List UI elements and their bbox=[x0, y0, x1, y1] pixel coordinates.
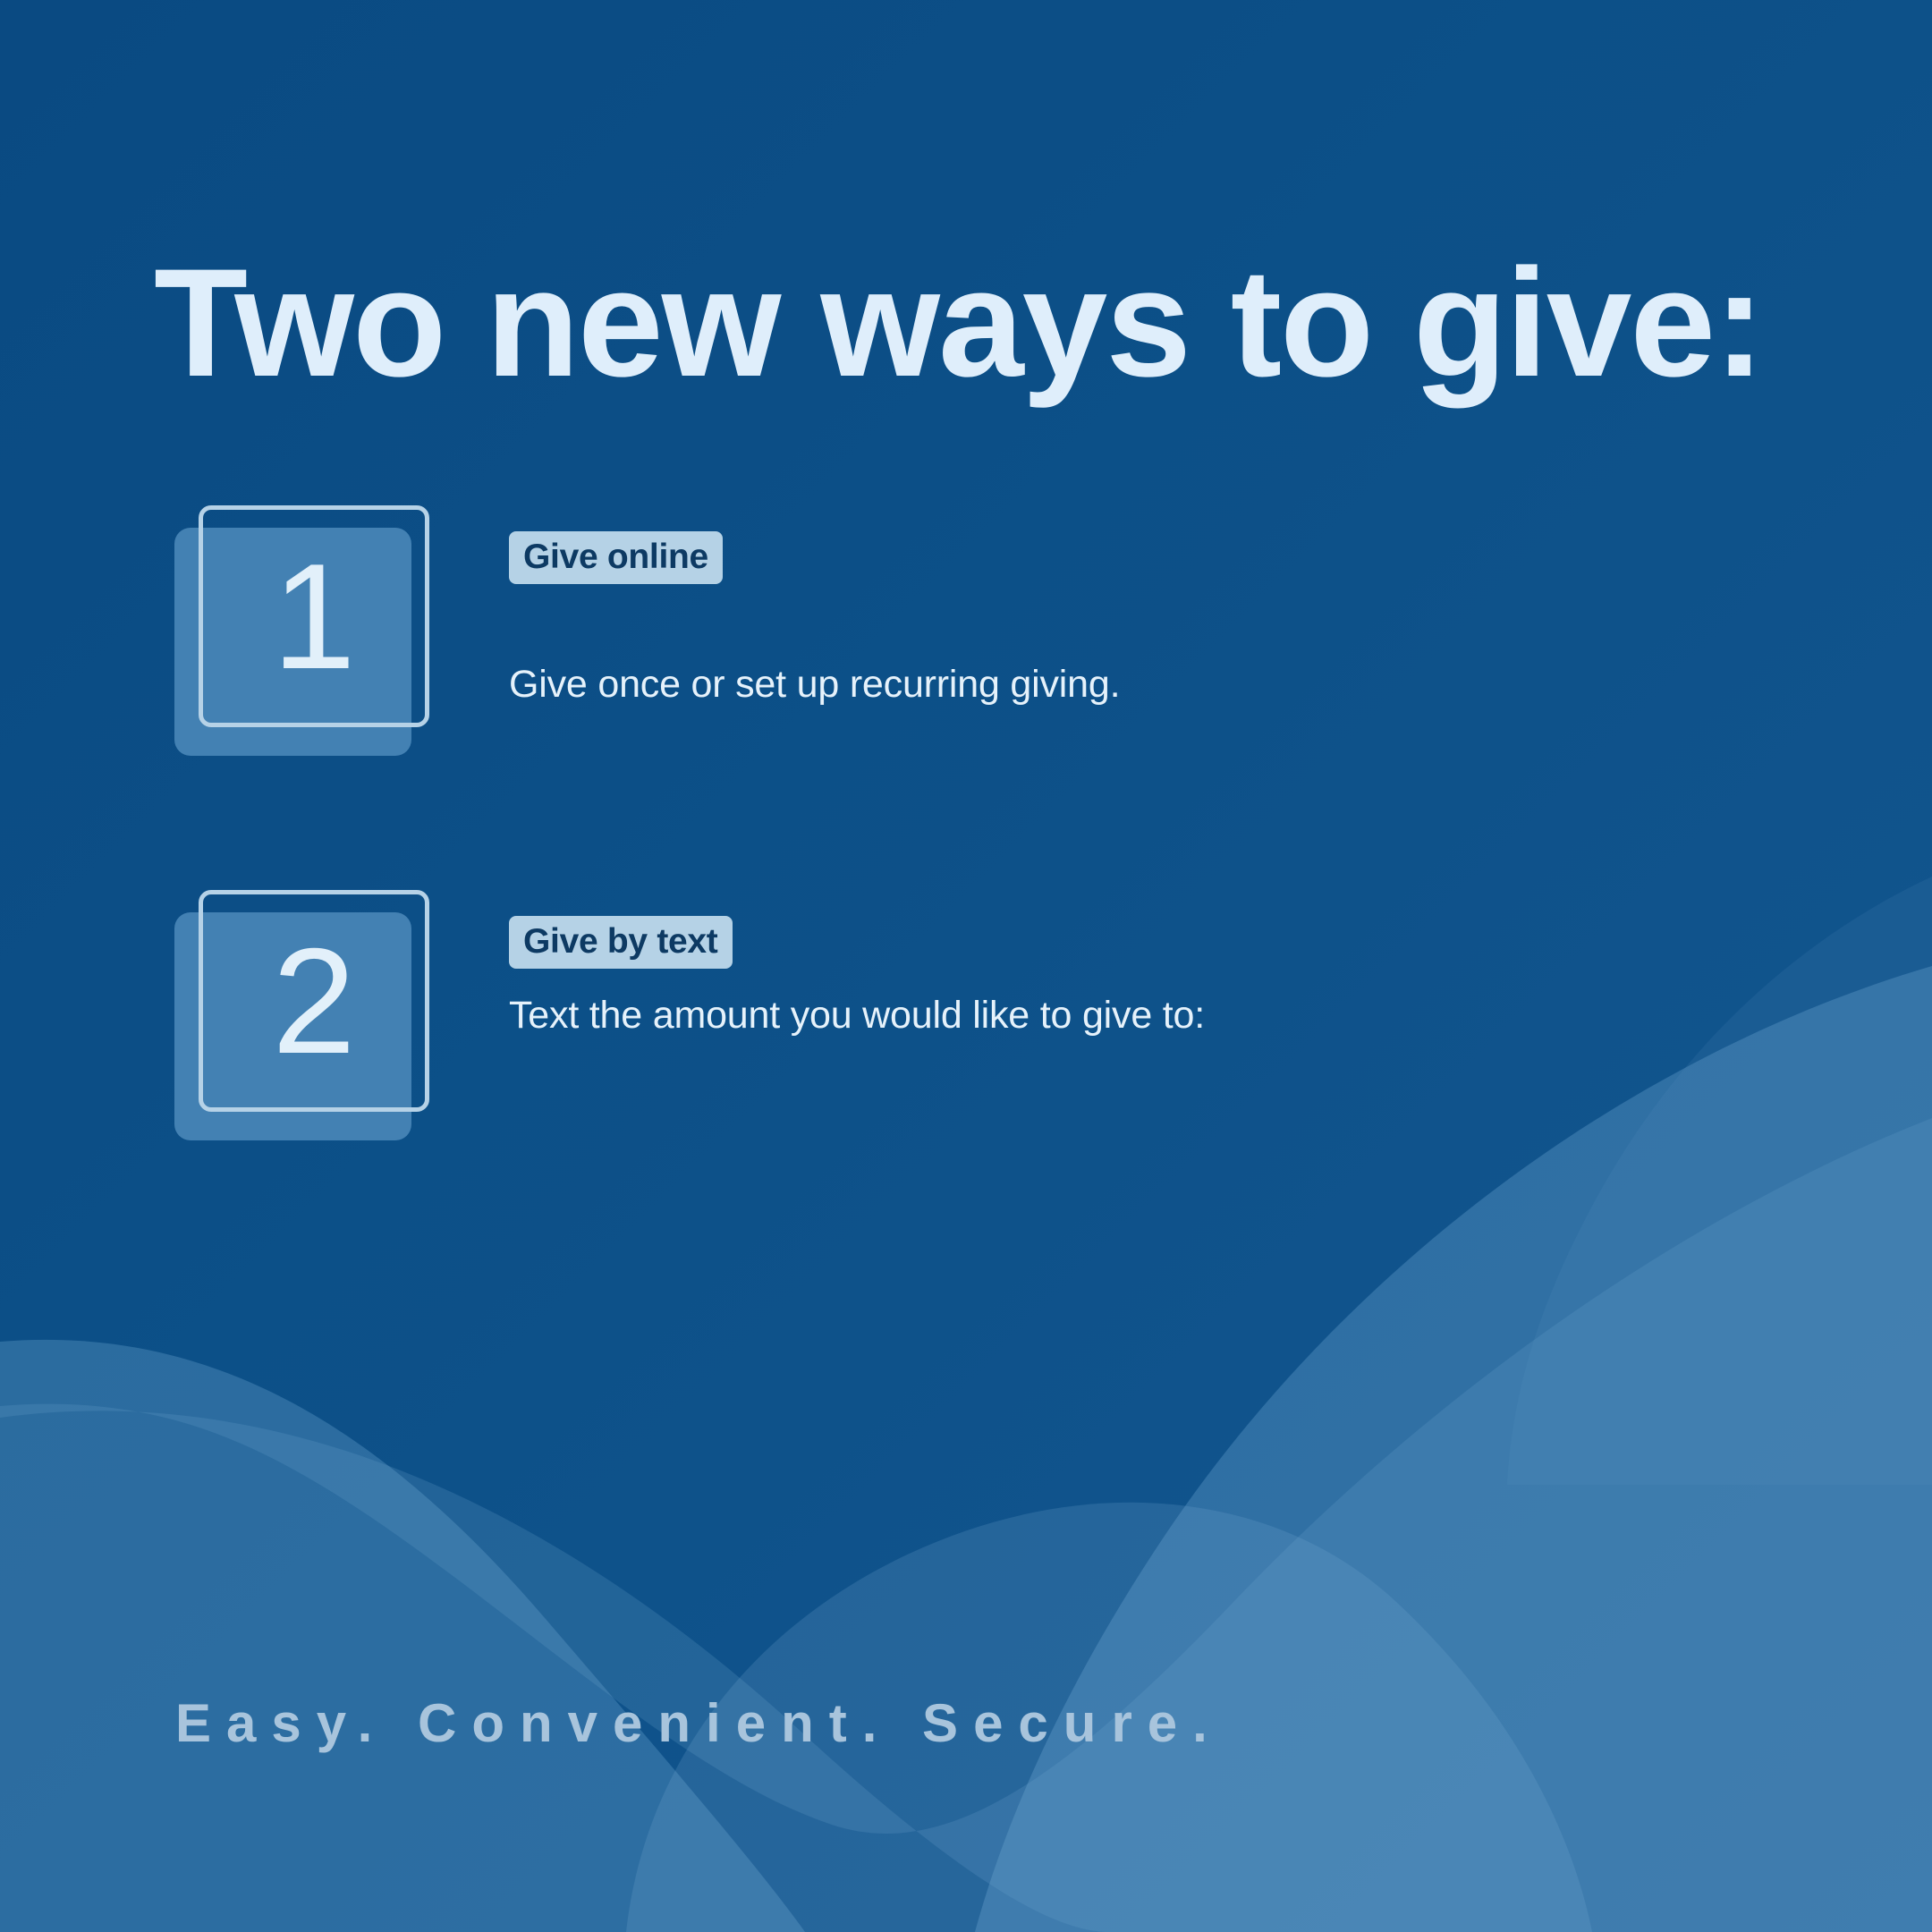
give-step-1: 1 Give online Give once or set up recurr… bbox=[0, 496, 1932, 765]
give-step-2: 2 Give by text Text the amount you would… bbox=[0, 881, 1932, 1149]
tagline: Easy. Convenient. Secure. bbox=[175, 1692, 1223, 1754]
step-description-1: Give once or set up recurring giving. bbox=[509, 663, 1120, 707]
page-title: Two new ways to give: bbox=[154, 246, 1763, 400]
step-description-2: Text the amount you would like to give t… bbox=[509, 994, 1205, 1038]
promotional-poster: Two new ways to give: 1 Give online Give… bbox=[0, 0, 1932, 1932]
step-badge-give-online: Give online bbox=[509, 531, 723, 584]
step-content-2: Give by text Text the amount you would l… bbox=[509, 881, 1205, 1038]
step-badge-give-by-text: Give by text bbox=[509, 916, 733, 969]
wave-bottom-left bbox=[0, 1340, 805, 1932]
step-number-2: 2 bbox=[199, 890, 429, 1112]
step-content-1: Give online Give once or set up recurrin… bbox=[509, 496, 1120, 707]
step-number-box-2: 2 bbox=[170, 881, 438, 1149]
step-number-box-1: 1 bbox=[170, 496, 438, 765]
wave-lower-band bbox=[0, 1118, 1932, 1932]
step-number-1: 1 bbox=[199, 505, 429, 727]
